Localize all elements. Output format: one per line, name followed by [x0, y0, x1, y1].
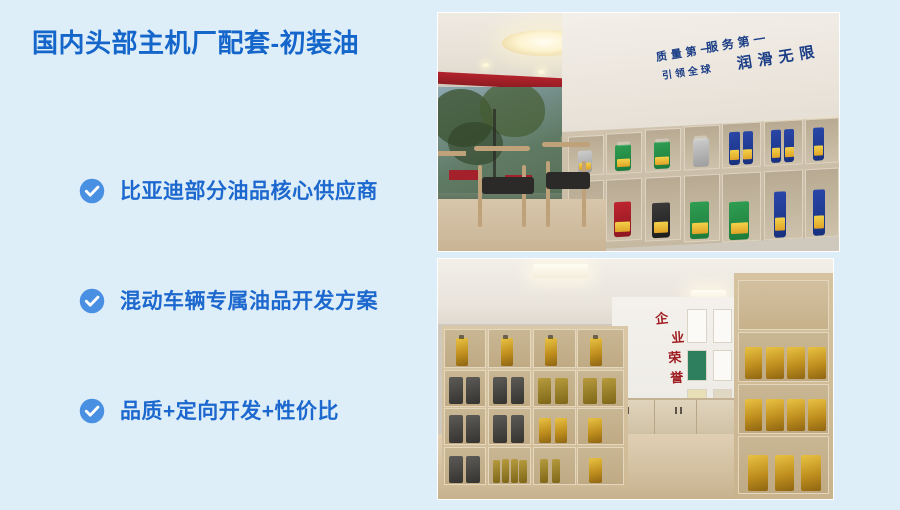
- oil-bottle: [493, 460, 500, 483]
- cabinet-divider: [654, 400, 655, 439]
- product-container: [654, 141, 670, 169]
- product-container: [814, 189, 825, 235]
- oil-bottle: [519, 460, 526, 483]
- oil-bottle: [555, 418, 567, 442]
- shelf-cell: [738, 332, 829, 382]
- chair-back: [474, 146, 530, 151]
- product-container: [652, 202, 670, 238]
- shelf-cell: [444, 408, 487, 445]
- chair-leg: [478, 165, 482, 227]
- oil-bottle: [748, 455, 768, 491]
- oil-bottle: [555, 378, 568, 404]
- shelf-cell: [488, 447, 531, 486]
- oil-bottle: [588, 418, 601, 442]
- shelf-cell: [738, 280, 829, 330]
- cabinet-divider: [696, 400, 697, 439]
- chair-seat: [546, 172, 590, 189]
- oil-bottle: [589, 458, 601, 483]
- shelf-cell: [488, 370, 531, 407]
- oil-bottle: [466, 415, 480, 442]
- ceiling-light-panel: [533, 264, 588, 278]
- showroom-display-wall-photo: 质量第一 服务第一 引领全球 润滑无限: [437, 12, 840, 252]
- oil-bottle: [545, 338, 557, 365]
- oil-bottle: [449, 456, 463, 483]
- page-title: 国内头部主机厂配套-初装油: [32, 23, 359, 60]
- street-shop-sign: [449, 170, 481, 180]
- shelf-cell: [533, 447, 576, 486]
- product-container: [743, 131, 753, 164]
- shelf-cell: [723, 172, 762, 243]
- shelf-cell: [607, 131, 643, 175]
- product-container: [730, 201, 750, 240]
- oil-bottle: [766, 347, 784, 378]
- oil-bottle: [449, 415, 463, 442]
- oil-bottle: [511, 377, 525, 404]
- base-cabinet: [612, 398, 738, 439]
- list-item-label: 品质+定向开发+性价比: [120, 401, 339, 422]
- oil-bottle: [539, 418, 551, 442]
- check-circle-icon: [78, 177, 106, 205]
- oil-bottle: [511, 459, 518, 483]
- oil-bottle: [602, 378, 616, 404]
- photo-content: 企 业 荣 誉: [438, 259, 833, 499]
- shelf-cell: [533, 370, 576, 407]
- shelf-cell: [806, 167, 839, 238]
- oil-bottle: [787, 347, 805, 378]
- product-container: [616, 144, 632, 171]
- oil-bottle: [493, 377, 507, 404]
- shelf-cell: [577, 408, 623, 445]
- shelf-cell: [577, 329, 623, 368]
- wall-honor-sign: 企 业 荣 誉: [647, 312, 687, 384]
- shelf-cell: [806, 118, 839, 165]
- cabinet-handle: [680, 407, 682, 414]
- oil-bottle: [501, 338, 513, 365]
- product-container: [614, 201, 631, 238]
- shelf-cell: [738, 436, 829, 495]
- oil-bottle: [502, 459, 509, 483]
- certificate-frame: [687, 309, 707, 343]
- shelf-cell: [684, 125, 720, 171]
- list-item: 混动车辆专属油品开发方案: [78, 270, 438, 332]
- product-container: [693, 138, 709, 167]
- list-item: 品质+定向开发+性价比: [78, 380, 438, 442]
- shelf-cell: [645, 176, 681, 242]
- shelf-cell: [764, 169, 803, 240]
- oil-bottle: [466, 377, 480, 404]
- shelf-cell: [577, 370, 623, 407]
- oil-bottle: [456, 338, 468, 365]
- list-item-label: 混动车辆专属油品开发方案: [120, 291, 378, 312]
- right-shelving-unit: [734, 273, 833, 499]
- product-container: [690, 201, 709, 239]
- shelf-cell: [607, 178, 643, 242]
- oil-bottle: [808, 399, 826, 430]
- photo-content: 质量第一 服务第一 引领全球 润滑无限: [438, 13, 839, 251]
- warehouse-wooden-shelves-photo: 企 业 荣 誉: [437, 258, 834, 500]
- certificate-frame: [713, 350, 733, 381]
- check-circle-icon: [78, 287, 106, 315]
- product-container: [784, 129, 794, 162]
- spot-light: [482, 63, 489, 67]
- oil-bottle: [766, 399, 784, 430]
- shelf-cell: [723, 122, 762, 169]
- product-container: [814, 127, 825, 160]
- shelf-cell: [738, 384, 829, 434]
- shelf-cell: [488, 408, 531, 445]
- shelf-cell: [533, 408, 576, 445]
- bullet-list: 比亚迪部分油品核心供应商 混动车辆专属油品开发方案 品质+定向开发+性价比: [78, 160, 438, 490]
- shelf-cell: [488, 329, 531, 368]
- certificate-frame: [687, 350, 707, 381]
- product-container: [774, 191, 786, 237]
- oil-bottle: [466, 456, 480, 483]
- product-container: [771, 129, 781, 162]
- oil-bottle: [493, 415, 507, 442]
- chair-leg: [522, 165, 526, 227]
- oil-bottle: [538, 378, 551, 404]
- shelf-cell: [533, 329, 576, 368]
- chair-back: [542, 142, 590, 147]
- shelf-cell: [577, 447, 623, 486]
- cabinet-handle: [675, 407, 677, 414]
- oil-bottle: [511, 415, 525, 442]
- chair-leg: [546, 161, 550, 228]
- oil-bottle: [583, 378, 597, 404]
- shelf-cell: [444, 447, 487, 486]
- left-content-pane: 国内头部主机厂配套-初装油 比亚迪部分油品核心供应商 混动车辆专属油品开发方案: [0, 0, 437, 510]
- shelf-cell: [444, 329, 487, 368]
- oil-bottle: [787, 399, 805, 430]
- oil-bottle: [540, 459, 548, 482]
- list-item: 比亚迪部分油品核心供应商: [78, 160, 438, 222]
- honor-sign-char: 企: [641, 310, 682, 327]
- left-shelving-unit: [442, 326, 628, 487]
- shelf-cell: [764, 119, 803, 166]
- oil-bottle: [449, 377, 463, 404]
- certificate-frame: [713, 309, 733, 343]
- oil-bottle: [745, 399, 763, 430]
- oil-bottle: [552, 459, 560, 482]
- check-circle-icon: [78, 397, 106, 425]
- oil-bottle: [808, 347, 826, 378]
- oil-bottle: [775, 455, 795, 491]
- chair-arm: [438, 151, 466, 156]
- shelf-cell: [645, 128, 681, 173]
- oil-bottle: [801, 455, 821, 491]
- shelf-cell: [684, 174, 720, 243]
- slide-root: 国内头部主机厂配套-初装油 比亚迪部分油品核心供应商 混动车辆专属油品开发方案: [0, 0, 900, 510]
- oil-bottle: [745, 347, 763, 378]
- shelf-cell: [444, 370, 487, 407]
- list-item-label: 比亚迪部分油品核心供应商: [120, 181, 378, 202]
- chair-leg: [582, 161, 586, 228]
- chair-seat: [482, 177, 534, 194]
- product-container: [730, 131, 740, 164]
- oil-bottle: [590, 338, 602, 365]
